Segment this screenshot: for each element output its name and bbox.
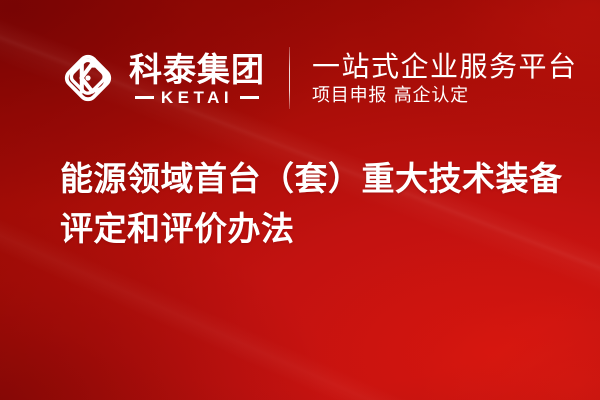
brand-dash-right-icon	[240, 96, 259, 99]
tagline-secondary: 项目申报 高企认定	[312, 86, 578, 106]
brand-name-en: KETAI	[161, 89, 233, 106]
brand-dash-left-icon	[135, 96, 154, 99]
brand-text-block: 科泰集团 KETAI	[129, 51, 265, 106]
brand-name-cn: 科泰集团	[129, 53, 265, 86]
tagline-primary: 一站式企业服务平台	[312, 52, 578, 81]
brand-header: 科泰集团 KETAI 一站式企业服务平台 项目申报 高企认定	[57, 38, 578, 118]
logo-lockup[interactable]: 科泰集团 KETAI	[57, 47, 265, 109]
page-title: 能源领域首台（套）重大技术装备评定和评价办法	[60, 154, 570, 254]
brand-name-en-row: KETAI	[129, 89, 265, 106]
header-divider	[289, 47, 290, 109]
tagline-block: 一站式企业服务平台 项目申报 高企认定	[312, 50, 578, 105]
promo-banner: 科泰集团 KETAI 一站式企业服务平台 项目申报 高企认定 能源领域首台（套）…	[0, 0, 600, 400]
ketai-diamond-monogram-icon	[57, 47, 119, 109]
